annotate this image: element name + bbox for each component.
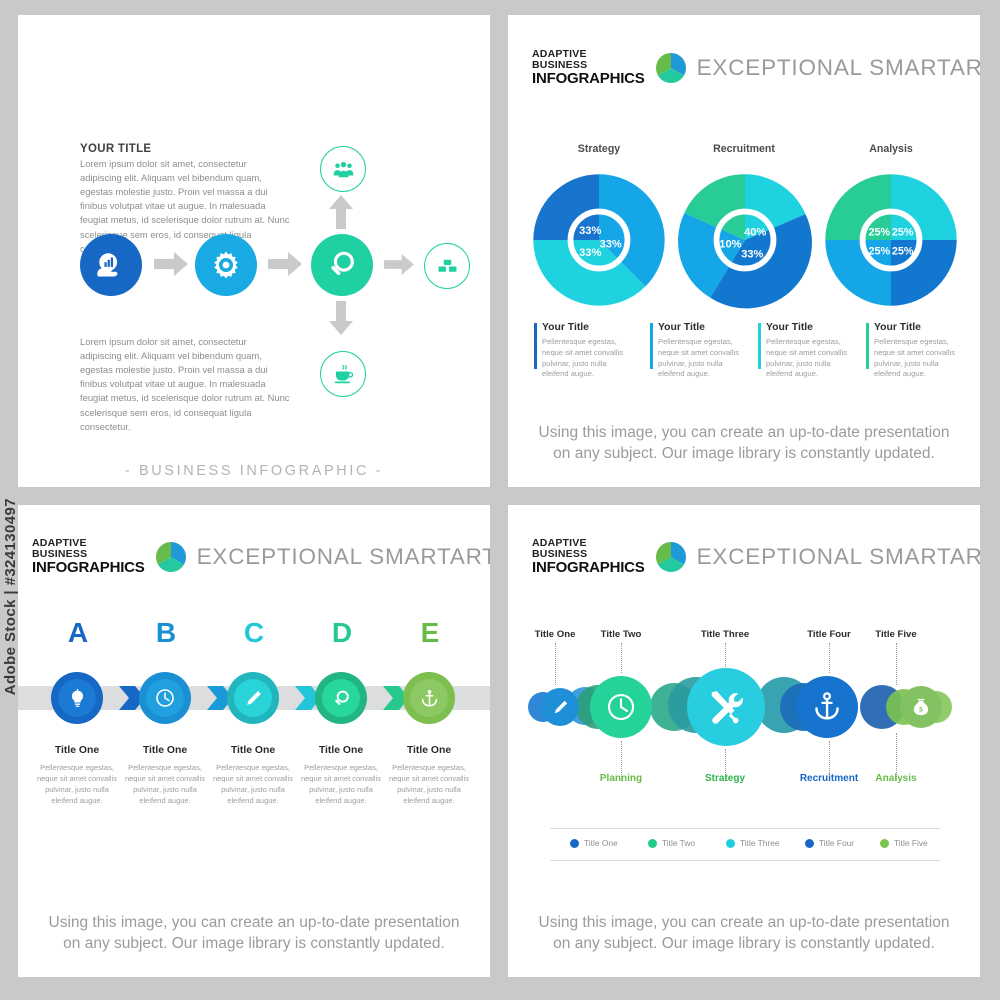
panel1-title: YOUR TITLE [80, 143, 151, 155]
arrow-up-icon [329, 195, 353, 229]
step-letter-e: E [385, 617, 475, 649]
leader-line [896, 643, 897, 685]
timeline-bottom-label-strategy: Strategy [680, 773, 770, 784]
footer-caption: Using this image, you can create an up-t… [508, 913, 980, 954]
panel-step-sequence: ADAPTIVE BUSINESS INFOGRAPHICS EXCEPTION… [18, 505, 490, 977]
step-caption: Title One Pellentesque egestas, neque si… [383, 745, 475, 807]
legend-item[interactable]: Title One [570, 838, 618, 848]
leader-line [555, 643, 556, 685]
legend-block[interactable]: Your Title Pellentesque egestas, neque s… [758, 322, 859, 380]
footer-caption: Using this image, you can create an up-t… [18, 913, 490, 954]
pencil-icon [552, 699, 569, 716]
brand-logo-icon [656, 542, 686, 572]
step-letter-a: A [33, 617, 123, 649]
hand-chart-icon [96, 250, 126, 280]
brand-wordmark: ADAPTIVE BUSINESS INFOGRAPHICS [32, 538, 145, 575]
timeline-bottom-label-analysis: Analysis [851, 773, 941, 784]
donut-value-label: 10% [719, 238, 741, 250]
leader-line [621, 643, 622, 673]
node-magnifier[interactable] [311, 234, 373, 296]
brand-title: EXCEPTIONAL SMARTART [697, 55, 980, 81]
legend-color-bar [758, 323, 761, 369]
legend-heading: Your Title [658, 322, 751, 333]
timeline-top-label: Title Two [576, 629, 666, 640]
legend-label: Title Three [740, 838, 780, 848]
panel-donut-charts: ADAPTIVE BUSINESS INFOGRAPHICS EXCEPTION… [508, 15, 980, 487]
step-circle-b[interactable] [139, 672, 191, 724]
timeline-node-clock[interactable] [590, 676, 652, 738]
timeline-node-tools[interactable] [687, 668, 765, 746]
poster-stage: Adobe Stock | #324130497 Adobe Stock Ado… [0, 0, 1000, 1000]
magnifier-icon [327, 250, 357, 280]
legend-heading: Your Title [874, 322, 967, 333]
panel1-footer-label: - BUSINESS INFOGRAPHIC - [18, 463, 490, 479]
gear-icon [211, 250, 241, 280]
node-gear[interactable] [195, 234, 257, 296]
legend-block[interactable]: Your Title Pellentesque egestas, neque s… [866, 322, 967, 380]
legend-divider-top [550, 828, 940, 829]
panel-timeline: ADAPTIVE BUSINESS INFOGRAPHICS EXCEPTION… [508, 505, 980, 977]
legend-body: Pellentesque egestas, neque sit amet con… [874, 337, 967, 380]
timeline-node-pencil[interactable] [541, 688, 579, 726]
brand-header: ADAPTIVE BUSINESS INFOGRAPHICS EXCEPTION… [32, 538, 490, 575]
step-title: Title One [31, 745, 123, 756]
legend-item[interactable]: Title Four [805, 838, 854, 848]
brand-logo-icon [656, 53, 686, 83]
step-body: Pellentesque egestas, neque sit amet con… [31, 763, 123, 807]
legend-label: Title Two [662, 838, 695, 848]
timeline-node-anchor[interactable] [796, 676, 858, 738]
timeline-bottom-label-planning: Planning [576, 773, 666, 784]
legend-color-bar [866, 323, 869, 369]
brand-header: ADAPTIVE BUSINESS INFOGRAPHICS EXCEPTION… [532, 538, 980, 575]
step-letter-c: C [209, 617, 299, 649]
legend-block[interactable]: Your Title Pellentesque egestas, neque s… [650, 322, 751, 380]
people-icon [333, 159, 354, 180]
donut-value-label: 33% [741, 249, 763, 261]
step-circle-a[interactable] [51, 672, 103, 724]
anchor-icon [420, 689, 439, 708]
legend-item[interactable]: Title Five [880, 838, 928, 848]
donut-label-strategy: Strategy [539, 143, 659, 155]
legend-block[interactable]: Your Title Pellentesque egestas, neque s… [534, 322, 635, 380]
brand-line1: ADAPTIVE BUSINESS [532, 49, 645, 71]
arrow-down-icon [329, 301, 353, 335]
step-circle-e[interactable] [403, 672, 455, 724]
timeline-top-label: Title Five [851, 629, 941, 640]
legend-body: Pellentesque egestas, neque sit amet con… [766, 337, 859, 380]
donut-value-label: 33% [579, 225, 601, 237]
brand-header: ADAPTIVE BUSINESS INFOGRAPHICS EXCEPTION… [532, 49, 980, 86]
step-title: Title One [383, 745, 475, 756]
anchor-icon [812, 692, 842, 722]
timeline-node-money-bag[interactable]: $ [900, 686, 942, 728]
step-caption: Title One Pellentesque egestas, neque si… [119, 745, 211, 807]
brand-logo-icon [156, 542, 186, 572]
donut-value-label: 25% [869, 227, 891, 239]
donut-value-label: 33% [579, 247, 601, 259]
step-body: Pellentesque egestas, neque sit amet con… [119, 763, 211, 807]
step-inner-a [58, 679, 96, 717]
legend-body: Pellentesque egestas, neque sit amet con… [542, 337, 635, 380]
svg-text:$: $ [919, 707, 923, 714]
coffee-cup-icon [333, 364, 354, 385]
step-circle-c[interactable] [227, 672, 279, 724]
legend-swatch [726, 839, 735, 848]
legend-heading: Your Title [766, 322, 859, 333]
brand-title: EXCEPTIONAL SMARTART [697, 544, 980, 570]
step-body: Pellentesque egestas, neque sit amet con… [383, 763, 475, 807]
donut-value-label: 25% [869, 246, 891, 258]
donut-value-label: 25% [892, 246, 914, 258]
boxes-icon [437, 256, 458, 277]
donut-label-analysis: Analysis [831, 143, 951, 155]
brand-title: EXCEPTIONAL SMARTART [197, 544, 490, 570]
donut-chart-recruitment[interactable]: 40% 10% 33% [672, 167, 818, 313]
step-inner-c [234, 679, 272, 717]
brand-line2: INFOGRAPHICS [32, 560, 145, 576]
legend-swatch [880, 839, 889, 848]
legend-item[interactable]: Title Three [726, 838, 780, 848]
step-circle-d[interactable] [315, 672, 367, 724]
panel-process-flow: YOUR TITLE Lorem ipsum dolor sit amet, c… [18, 15, 490, 487]
step-caption: Title One Pellentesque egestas, neque si… [31, 745, 123, 807]
clock-icon [606, 692, 636, 722]
brand-line1: ADAPTIVE BUSINESS [32, 538, 145, 560]
tools-icon [707, 688, 745, 726]
node-boxes[interactable] [424, 243, 470, 289]
donut-value-label: 40% [744, 227, 766, 239]
step-inner-e [410, 679, 448, 717]
legend-swatch [648, 839, 657, 848]
donut-chart-strategy[interactable]: 33% 33% 33% [526, 167, 672, 313]
donut-value-label: 25% [892, 227, 914, 239]
step-letter-d: D [297, 617, 387, 649]
magnifier-icon [332, 689, 351, 708]
brand-line2: INFOGRAPHICS [532, 560, 645, 576]
donut-value-label: 33% [600, 238, 622, 250]
legend-color-bar [650, 323, 653, 369]
brand-wordmark: ADAPTIVE BUSINESS INFOGRAPHICS [532, 538, 645, 575]
legend-color-bar [534, 323, 537, 369]
step-title: Title One [119, 745, 211, 756]
legend-swatch [570, 839, 579, 848]
step-caption: Title One Pellentesque egestas, neque si… [207, 745, 299, 807]
pencil-icon [244, 689, 263, 708]
legend-body: Pellentesque egestas, neque sit amet con… [658, 337, 751, 380]
money-bag-icon: $ [911, 697, 931, 717]
leader-line [829, 643, 830, 673]
step-letter-b: B [121, 617, 211, 649]
panel1-paragraph-bottom: Lorem ipsum dolor sit amet, consectetur … [80, 335, 290, 434]
step-inner-d [322, 679, 360, 717]
legend-item[interactable]: Title Two [648, 838, 695, 848]
brand-wordmark: ADAPTIVE BUSINESS INFOGRAPHICS [532, 49, 645, 86]
legend-label: Title Five [894, 838, 928, 848]
legend-label: Title Four [819, 838, 854, 848]
timeline-top-label: Title Three [680, 629, 770, 640]
node-people[interactable] [320, 146, 366, 192]
step-title: Title One [207, 745, 299, 756]
brand-line1: ADAPTIVE BUSINESS [532, 538, 645, 560]
brand-line2: INFOGRAPHICS [532, 71, 645, 87]
legend-swatch [805, 839, 814, 848]
arrow-right-icon [384, 254, 414, 275]
adobe-stock-watermark: Adobe Stock | #324130497 [2, 498, 19, 695]
step-inner-b [146, 679, 184, 717]
arrow-right-icon [268, 252, 302, 276]
step-caption: Title One Pellentesque egestas, neque si… [295, 745, 387, 807]
donut-label-recruitment: Recruitment [684, 143, 804, 155]
node-hand-chart[interactable] [80, 234, 142, 296]
legend-heading: Your Title [542, 322, 635, 333]
step-body: Pellentesque egestas, neque sit amet con… [207, 763, 299, 807]
node-coffee-cup[interactable] [320, 351, 366, 397]
legend-label: Title One [584, 838, 618, 848]
step-title: Title One [295, 745, 387, 756]
clock-icon [155, 688, 175, 708]
arrow-right-icon [154, 252, 188, 276]
donut-chart-analysis[interactable]: 25% 25% 25% 25% [818, 167, 964, 313]
leader-line [725, 643, 726, 667]
lightbulb-icon [68, 689, 87, 708]
step-body: Pellentesque egestas, neque sit amet con… [295, 763, 387, 807]
legend-divider-bottom [550, 860, 940, 861]
footer-caption: Using this image, you can create an up-t… [508, 423, 980, 464]
